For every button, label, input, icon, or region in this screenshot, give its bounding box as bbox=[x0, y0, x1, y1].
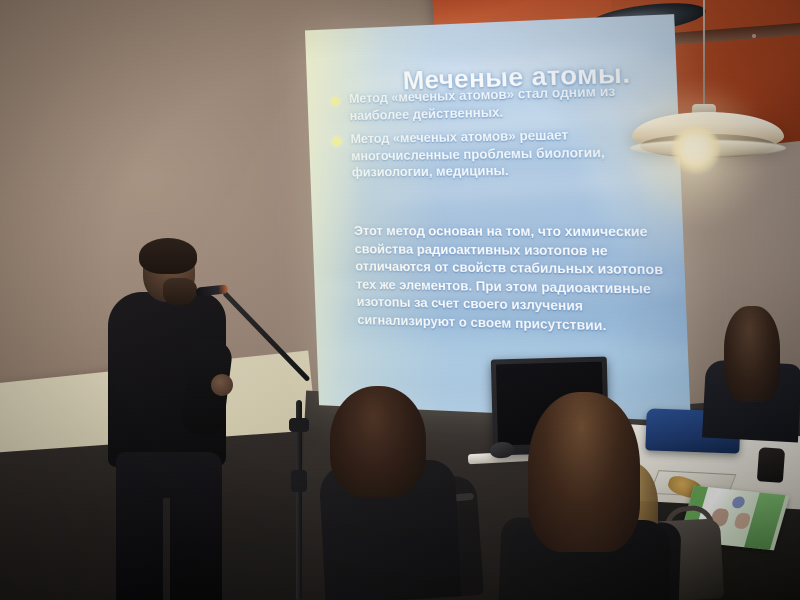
audience-member-head bbox=[724, 306, 780, 402]
audience-member-head bbox=[330, 386, 426, 498]
water-bottle bbox=[757, 447, 785, 483]
light-bulb-icon bbox=[672, 126, 720, 174]
lamp-cord bbox=[703, 0, 705, 108]
ceiling-screw bbox=[752, 34, 756, 38]
projector-glare-secondary bbox=[563, 56, 690, 275]
brochure-graphic bbox=[731, 496, 746, 509]
speaker-hair bbox=[139, 238, 197, 274]
lecture-photograph: Меченые атомы. Метод «меченых атомов» ст… bbox=[0, 0, 800, 600]
microphone-clamp bbox=[291, 470, 307, 492]
speaker-leg-gap bbox=[163, 498, 170, 600]
speaker-hand bbox=[211, 374, 233, 396]
audience-member-head bbox=[528, 392, 640, 552]
microphone-clamp bbox=[289, 418, 309, 432]
projector-glare bbox=[305, 14, 442, 422]
